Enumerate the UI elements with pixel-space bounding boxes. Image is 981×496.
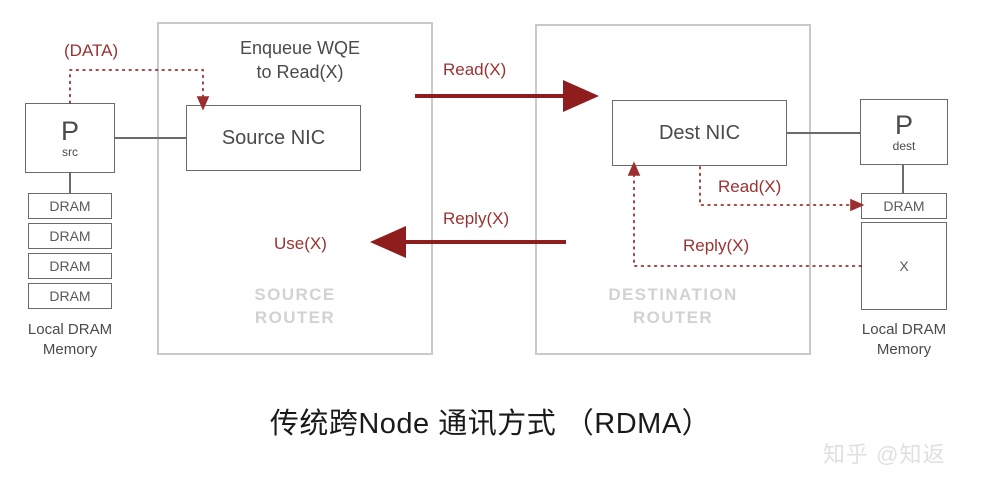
source-dram-0[interactable]: DRAM: [28, 193, 112, 219]
source-dram-0-label: DRAM: [49, 198, 90, 214]
dest-processor-name: P: [895, 111, 913, 139]
diagram-canvas: SOURCE ROUTER DESTINATION ROUTER P src D…: [0, 0, 981, 496]
dest-nic-label: Dest NIC: [659, 122, 740, 145]
dest-x-box[interactable]: X: [861, 222, 947, 310]
source-processor-box[interactable]: P src: [25, 103, 115, 173]
dest-dram-box[interactable]: DRAM: [861, 193, 947, 219]
dest-dram-label: DRAM: [883, 198, 924, 214]
connector-psrc-to-source-nic: [115, 137, 187, 139]
source-dram-2[interactable]: DRAM: [28, 253, 112, 279]
dest-x-label: X: [899, 258, 908, 274]
connector-dest-nic-to-pdest: [787, 132, 861, 134]
diagram-caption: 传统跨Node 通讯方式 （RDMA）: [0, 400, 981, 442]
dest-reply-label: Reply(X): [683, 236, 749, 256]
data-label: (DATA): [64, 41, 118, 61]
source-dram-3-label: DRAM: [49, 288, 90, 304]
dest-processor-inner: P dest: [893, 111, 916, 153]
connector-pdest-to-dram: [902, 165, 904, 193]
use-x-label: Use(X): [274, 234, 327, 254]
source-router-label: SOURCE ROUTER: [157, 283, 433, 329]
source-nic-label: Source NIC: [222, 127, 325, 150]
connector-psrc-to-dram-stack: [69, 173, 71, 193]
dest-nic-box[interactable]: Dest NIC: [612, 100, 787, 166]
dest-read-label: Read(X): [718, 177, 781, 197]
source-processor-inner: P src: [61, 117, 79, 159]
source-dram-1-label: DRAM: [49, 228, 90, 244]
watermark: 知乎 @知返: [823, 437, 945, 469]
dest-memory-label: Local DRAM Memory: [834, 320, 974, 360]
network-reply-label: Reply(X): [443, 209, 509, 229]
dest-processor-box[interactable]: P dest: [860, 99, 948, 165]
source-processor-sub: src: [62, 145, 78, 159]
source-dram-1[interactable]: DRAM: [28, 223, 112, 249]
destination-router-label: DESTINATION ROUTER: [535, 283, 811, 329]
source-nic-box[interactable]: Source NIC: [186, 105, 361, 171]
enqueue-wqe-note: Enqueue WQE to Read(X): [195, 36, 405, 84]
source-dram-2-label: DRAM: [49, 258, 90, 274]
source-dram-3[interactable]: DRAM: [28, 283, 112, 309]
dest-processor-sub: dest: [893, 139, 916, 153]
source-processor-name: P: [61, 117, 79, 145]
network-read-label: Read(X): [443, 60, 506, 80]
source-memory-label: Local DRAM Memory: [0, 320, 140, 360]
